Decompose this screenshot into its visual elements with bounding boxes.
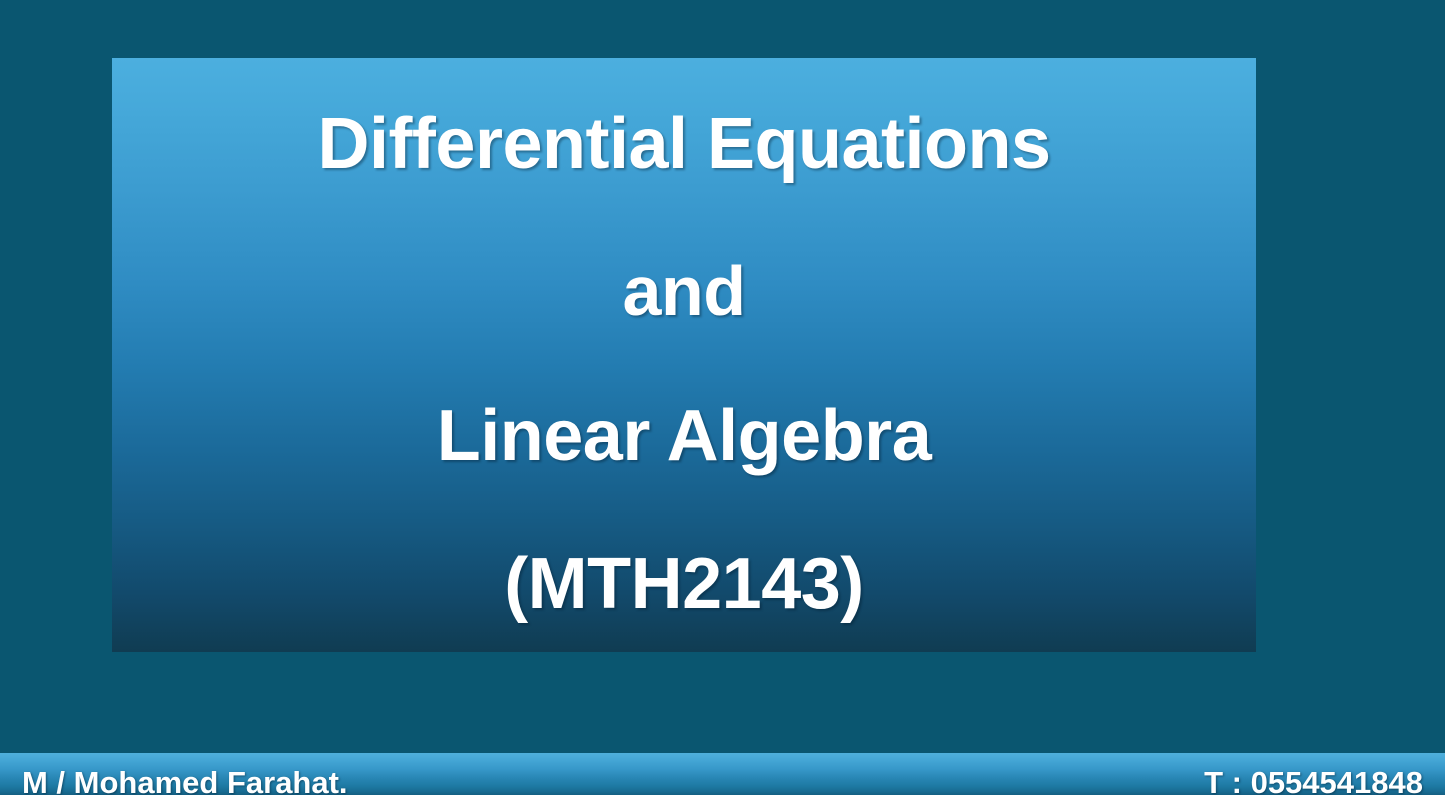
slide-title-secondary: Linear Algebra (112, 400, 1256, 472)
slide-title-primary: Differential Equations (112, 108, 1256, 180)
slide-course-code: (MTH2143) (112, 548, 1256, 620)
slide-title-conjunction: and (112, 256, 1256, 326)
footer-presenter-name: M / Mohamed Farahat. (22, 767, 348, 795)
title-panel: Differential Equations and Linear Algebr… (112, 58, 1256, 652)
footer-bar: M / Mohamed Farahat. T : 0554541848 (0, 753, 1445, 795)
footer-phone-number: T : 0554541848 (1204, 767, 1423, 795)
slide-root: Differential Equations and Linear Algebr… (0, 0, 1445, 795)
